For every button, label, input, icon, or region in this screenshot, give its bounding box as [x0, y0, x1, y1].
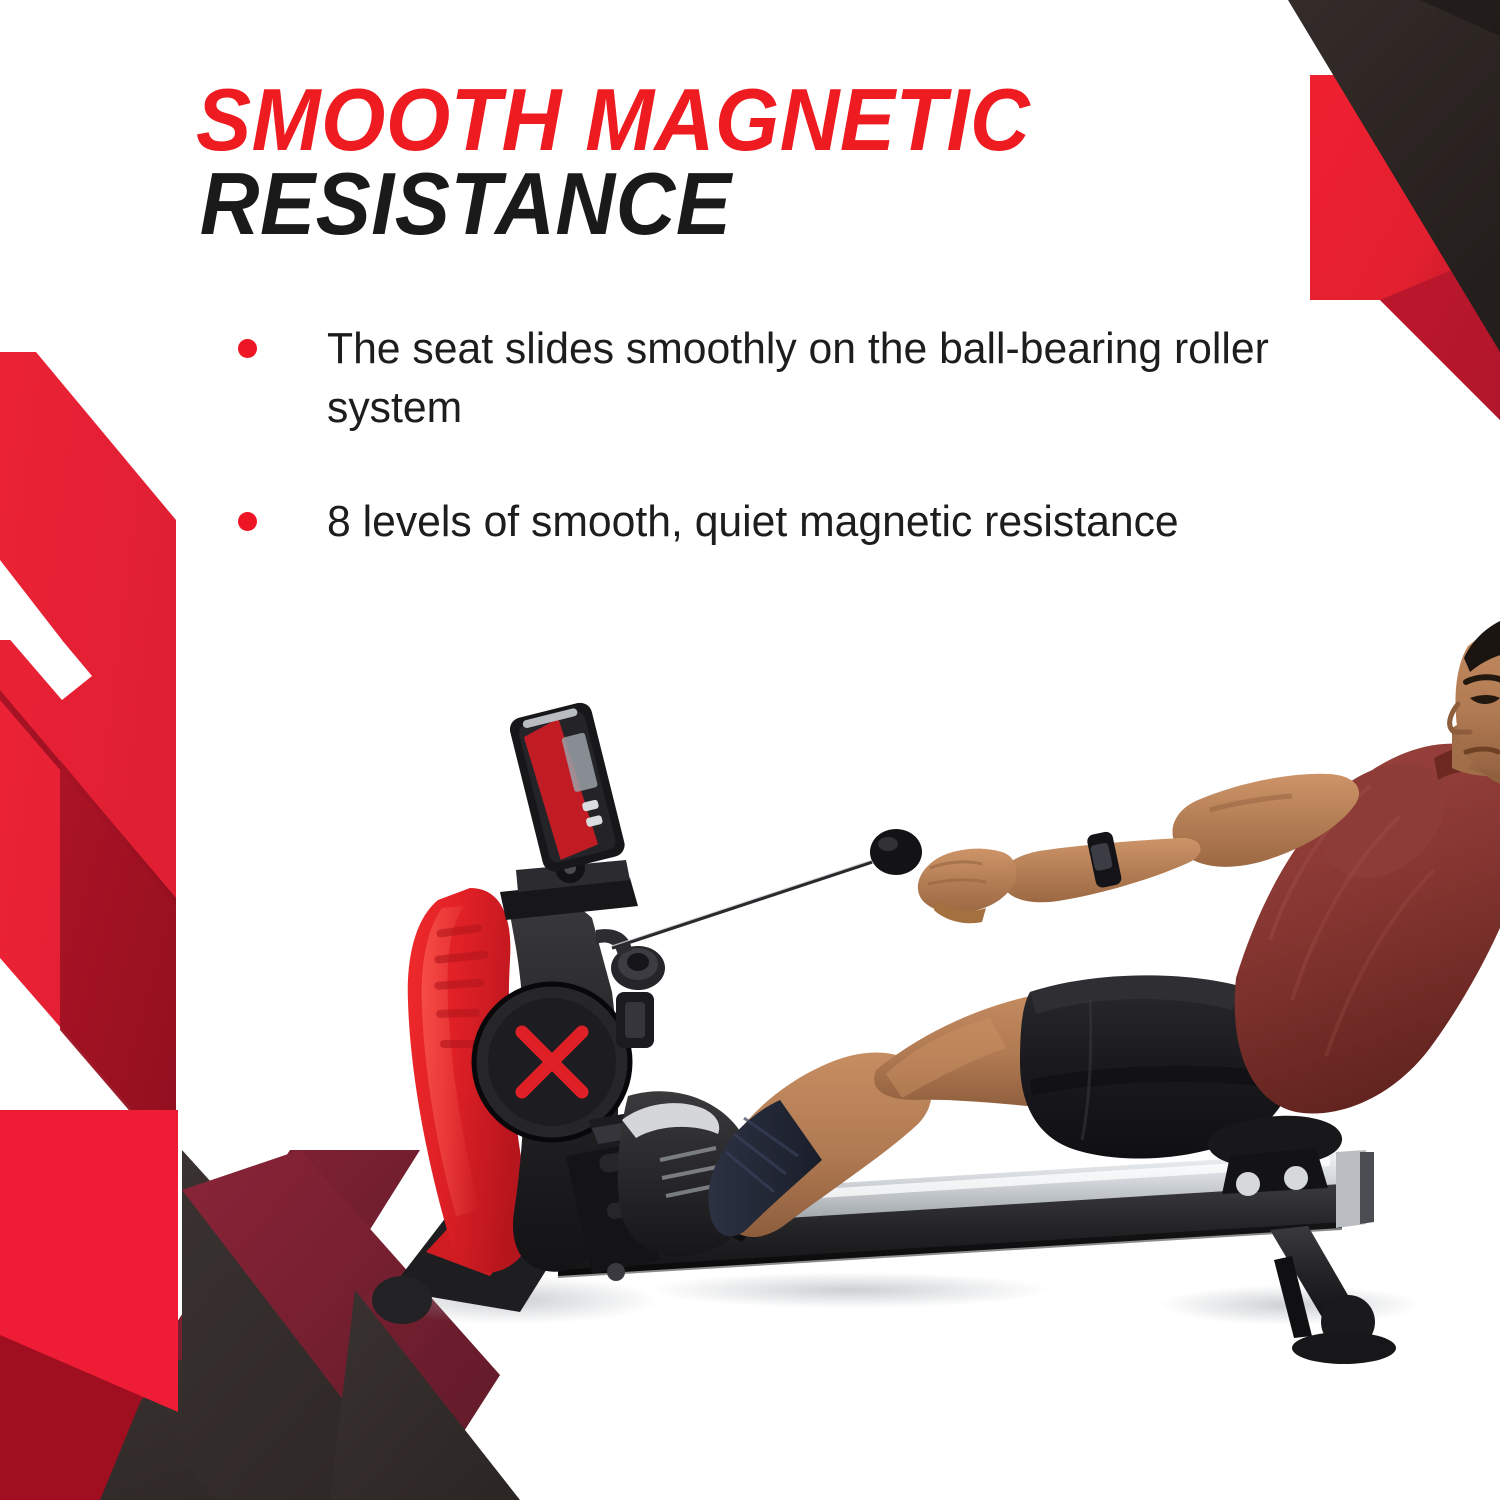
- bottom-left-dark-band-1: [0, 1225, 175, 1440]
- top-right-dark-triangle: [1288, 0, 1500, 352]
- knob-bracket-slot: [625, 1002, 645, 1038]
- bullet-text: 8 levels of smooth, quiet magnetic resis…: [327, 493, 1337, 552]
- left-chevron-notch-arrow: [0, 566, 92, 700]
- bottom-left-red-shadow: [0, 1310, 178, 1500]
- handle: [870, 829, 922, 875]
- list-item: 8 levels of smooth, quiet magnetic resis…: [238, 493, 1368, 552]
- left-edge-decoration: [0, 352, 176, 1165]
- front-foot-cap: [372, 1276, 432, 1324]
- left-chevron-lower-red: [0, 700, 176, 1160]
- person-rowing: [708, 611, 1500, 1237]
- list-item: The seat slides smoothly on the ball-bea…: [238, 320, 1368, 437]
- bottom-left-dark-band-2: [60, 1360, 420, 1500]
- handle-highlight: [878, 837, 898, 851]
- promo-page: SMOOTH MAGNETIC RESISTANCE The seat slid…: [0, 0, 1500, 1500]
- top-right-dark-notch: [1420, 0, 1500, 36]
- pull-cord: [612, 862, 872, 948]
- left-chevron-lower-shadow: [60, 760, 176, 1165]
- rail-end-cap-dark: [1360, 1152, 1374, 1224]
- seat-roller-1: [1236, 1172, 1260, 1196]
- bullet-dot-icon: [238, 512, 257, 531]
- bullet-dot-icon: [238, 339, 257, 358]
- headline-block: SMOOTH MAGNETIC RESISTANCE: [196, 78, 1236, 247]
- product-photo: [330, 600, 1500, 1380]
- left-chevron-upper-shadow: [0, 690, 176, 965]
- feature-bullet-list: The seat slides smoothly on the ball-bea…: [238, 320, 1368, 608]
- top-right-red-lower: [1380, 250, 1500, 420]
- console-monitor: [507, 700, 627, 874]
- headline-line-2: RESISTANCE: [196, 162, 1174, 246]
- rowing-machine-illustration: [330, 600, 1500, 1380]
- pull-cord-assembly: [612, 829, 922, 948]
- rear-foot-pad: [1292, 1332, 1396, 1364]
- pedal-bolt: [607, 1263, 625, 1281]
- seat-assembly: [1208, 1116, 1342, 1196]
- bottom-left-red-bright: [0, 1110, 178, 1410]
- bullet-text: The seat slides smoothly on the ball-bea…: [327, 320, 1337, 437]
- headline-line-1: SMOOTH MAGNETIC: [196, 78, 1174, 162]
- left-chevron-white-notch: [0, 560, 62, 640]
- pull-cord-highlight: [612, 860, 872, 946]
- left-chevron-upper-red: [0, 352, 176, 905]
- bottom-left-red-bright-tip: [0, 1150, 178, 1412]
- seat-roller-2: [1284, 1166, 1308, 1190]
- floor-shadow-mid: [650, 1272, 1050, 1308]
